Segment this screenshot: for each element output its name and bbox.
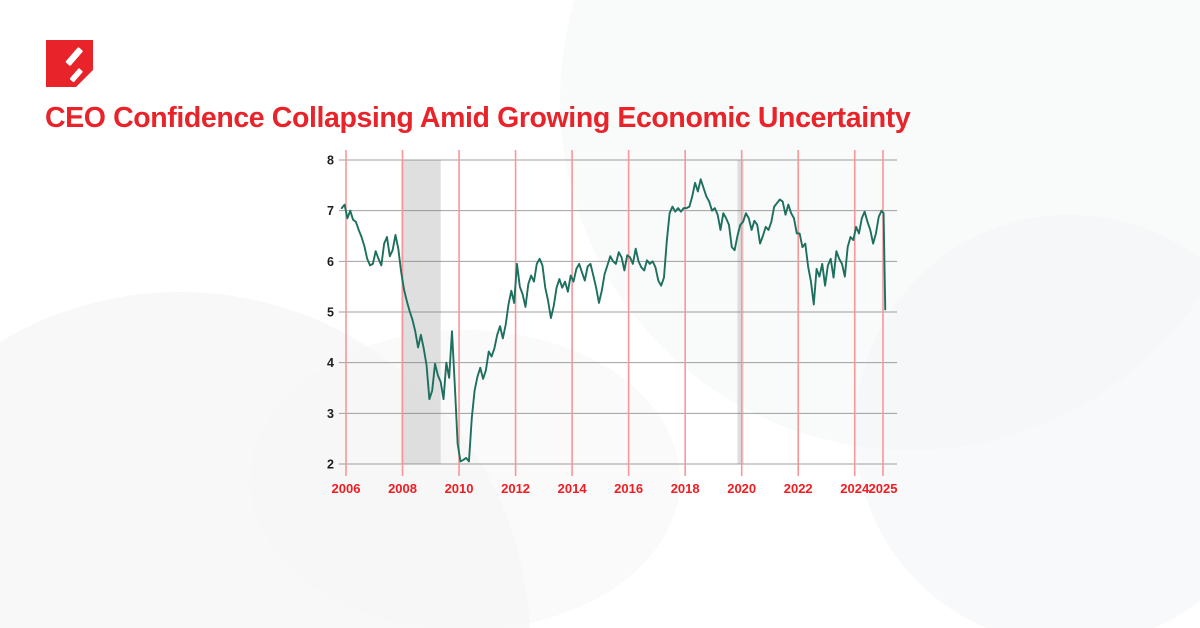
y-tick-label-3: 3 [327, 407, 334, 421]
x-tick-label-2020: 2020 [727, 481, 756, 496]
x-tick-label-2025: 2025 [869, 481, 898, 496]
x-tick-label-2006: 2006 [332, 481, 361, 496]
x-tick-label-2010: 2010 [445, 481, 474, 496]
line-chart: 8765432 20062008201020122014201620182020… [0, 0, 1200, 628]
x-tick-label-2014: 2014 [558, 481, 588, 496]
y-tick-label-8: 8 [327, 154, 334, 168]
y-tick-label-2: 2 [327, 458, 334, 472]
x-tick-label-2022: 2022 [784, 481, 813, 496]
chart-canvas: 8765432 20062008201020122014201620182020… [0, 0, 1200, 628]
y-tick-label-4: 4 [327, 356, 334, 370]
y-tick-label-5: 5 [327, 306, 334, 320]
x-tick-label-2012: 2012 [501, 481, 530, 496]
x-tick-label-2016: 2016 [614, 481, 643, 496]
y-tick-label-6: 6 [327, 255, 334, 269]
y-axis-labels: 8765432 [327, 154, 334, 472]
y-tick-label-7: 7 [327, 204, 334, 218]
x-tick-label-2008: 2008 [388, 481, 417, 496]
x-tick-label-2024: 2024 [840, 481, 870, 496]
x-axis-labels: 2006200820102012201420162018202020222024… [332, 481, 898, 496]
infographic-card: CEO Confidence Collapsing Amid Growing E… [0, 0, 1200, 628]
x-tick-label-2018: 2018 [671, 481, 700, 496]
